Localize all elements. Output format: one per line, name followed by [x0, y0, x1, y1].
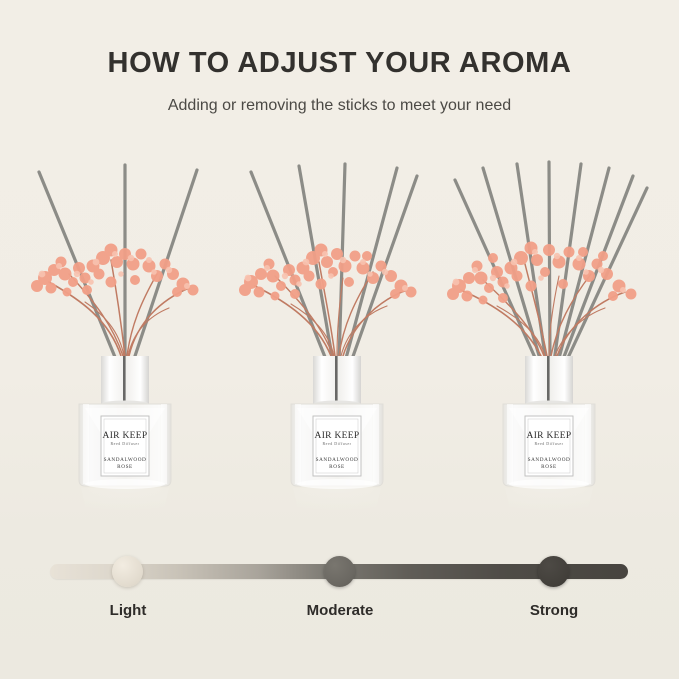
- label-scent-1: SANDALWOOD: [104, 457, 147, 463]
- bottle-label: AIR KEEP Reed Diffuser SANDALWOOD ROSE: [101, 416, 149, 476]
- intensity-slider[interactable]: Light Moderate Strong: [0, 548, 679, 638]
- page-subtitle: Adding or removing the sticks to meet yo…: [0, 96, 679, 115]
- label-brand-sub: Reed Diffuser: [323, 441, 352, 446]
- label-brand: AIR KEEP: [103, 431, 148, 441]
- label-scent-2: ROSE: [329, 464, 345, 470]
- header: HOW TO ADJUST YOUR AROMA Adding or remov…: [0, 48, 679, 115]
- page-title: HOW TO ADJUST YOUR AROMA: [0, 48, 679, 80]
- bottle-reflection: [505, 488, 593, 514]
- slider-knob-moderate[interactable]: [324, 556, 355, 587]
- bottle-collar: [525, 356, 573, 408]
- diffuser-strong: AIR KEEP Reed Diffuser SANDALWOOD ROSE: [445, 150, 659, 520]
- bottle-label: AIR KEEP Reed Diffuser SANDALWOOD ROSE: [313, 416, 361, 476]
- slider-label-light: Light: [48, 603, 208, 618]
- diffuser-moderate: AIR KEEP Reed Diffuser SANDALWOOD ROSE: [233, 150, 447, 520]
- flower-blossoms: [31, 244, 199, 298]
- label-brand-sub: Reed Diffuser: [111, 441, 140, 446]
- diffuser-light: AIR KEEP Reed Diffuser SANDALWOOD ROSE: [21, 150, 235, 520]
- bottle-reflection: [293, 488, 381, 514]
- aroma-instruction-poster: HOW TO ADJUST YOUR AROMA Adding or remov…: [0, 0, 679, 679]
- label-scent-2: ROSE: [541, 464, 557, 470]
- flower-blossoms: [447, 242, 637, 305]
- diffuser-illustration-moderate: AIR KEEP Reed Diffuser SANDALWOOD ROSE: [233, 150, 447, 520]
- slider-label-strong: Strong: [474, 603, 634, 618]
- reed-sticks: [455, 162, 647, 362]
- label-brand: AIR KEEP: [315, 431, 360, 441]
- product-row: AIR KEEP Reed Diffuser SANDALWOOD ROSE: [0, 150, 679, 520]
- label-brand-sub: Reed Diffuser: [535, 441, 564, 446]
- slider-knob-light[interactable]: [112, 556, 143, 587]
- label-scent-2: ROSE: [117, 464, 133, 470]
- diffuser-illustration-light: AIR KEEP Reed Diffuser SANDALWOOD ROSE: [21, 150, 235, 520]
- diffuser-illustration-strong: AIR KEEP Reed Diffuser SANDALWOOD ROSE: [445, 150, 659, 520]
- label-scent-1: SANDALWOOD: [528, 457, 571, 463]
- label-scent-1: SANDALWOOD: [316, 457, 359, 463]
- bottle-collar: [101, 356, 149, 408]
- slider-knob-strong[interactable]: [538, 556, 569, 587]
- bottle-label: AIR KEEP Reed Diffuser SANDALWOOD ROSE: [525, 416, 573, 476]
- bottle-reflection: [81, 488, 169, 514]
- slider-label-moderate: Moderate: [260, 603, 420, 618]
- bottle-collar: [313, 356, 361, 408]
- slider-labels: Light Moderate Strong: [0, 603, 679, 627]
- reed-sticks: [251, 164, 417, 362]
- label-brand: AIR KEEP: [527, 431, 572, 441]
